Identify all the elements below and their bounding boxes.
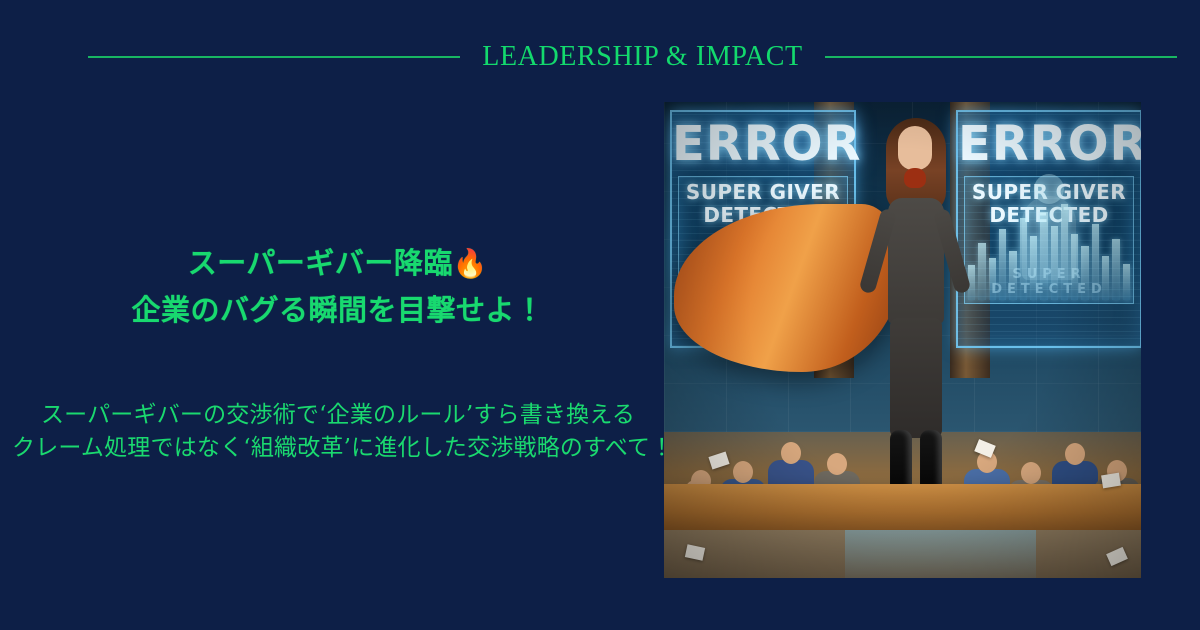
hologram-bar xyxy=(1030,236,1037,300)
eyebrow-rule-right xyxy=(825,56,1177,58)
fire-icon: 🔥 xyxy=(453,247,488,280)
error-label-left: ERROR xyxy=(672,116,854,172)
hologram-bar xyxy=(1040,212,1047,300)
illustration-image: ERROR SUPER GIVER DETECTED SUPER DETECTE… xyxy=(664,102,1141,578)
flying-paper xyxy=(1101,473,1121,489)
crowd-person-head xyxy=(827,453,847,475)
text-column: スーパーギバー降臨🔥 企業のバグる瞬間を目撃せよ！ スーパーギバーの交渉術で‘企… xyxy=(12,102,664,580)
hologram-bar xyxy=(1123,264,1130,300)
subcopy-line-2: クレーム処理ではなく‘組織改革’に進化した交渉戦略のすべて！ xyxy=(12,432,664,465)
holo-screen-right: ERROR SUPER GIVER DETECTED SUPER DETECTE… xyxy=(956,110,1141,348)
hologram-bar-chart xyxy=(968,204,1130,300)
crowd-person-head xyxy=(781,442,801,464)
face xyxy=(898,126,932,170)
floor xyxy=(664,530,1141,578)
headline-line-1-text: スーパーギバー降臨 xyxy=(188,246,453,280)
headline: スーパーギバー降臨🔥 企業のバグる瞬間を目撃せよ！ xyxy=(12,240,664,333)
hologram-bar xyxy=(1009,251,1016,300)
eyebrow-header: LEADERSHIP & IMPACT xyxy=(0,36,1200,78)
eyebrow-title: LEADERSHIP & IMPACT xyxy=(482,43,802,71)
hologram-bar xyxy=(1102,256,1109,300)
office-scene: ERROR SUPER GIVER DETECTED SUPER DETECTE… xyxy=(664,102,1141,578)
subcopy: スーパーギバーの交渉術で‘企業のルール’すら書き換える クレーム処理ではなく‘組… xyxy=(12,399,664,465)
conference-table xyxy=(664,484,1141,530)
error-label-right: ERROR xyxy=(958,116,1140,172)
hologram-bar xyxy=(1081,246,1088,300)
neck-bow xyxy=(904,168,926,188)
subcopy-line-1: スーパーギバーの交渉術で‘企業のルール’すら書き換える xyxy=(12,399,664,432)
hologram-bar xyxy=(978,243,985,300)
hologram-bar xyxy=(1092,224,1099,300)
crowd-person-head xyxy=(1065,443,1085,465)
hologram-bar xyxy=(1112,239,1119,300)
hologram-bar xyxy=(1071,234,1078,300)
hologram-bar xyxy=(989,258,996,300)
hologram-bar xyxy=(1061,204,1068,300)
headline-line-2: 企業のバグる瞬間を目撃せよ！ xyxy=(12,287,664,333)
hologram-bar xyxy=(999,229,1006,300)
eyebrow-rule-left xyxy=(88,56,460,58)
hologram-bar xyxy=(1020,218,1027,300)
hologram-bar xyxy=(1051,226,1058,300)
crowd-person-head xyxy=(733,461,753,483)
poster-canvas: LEADERSHIP & IMPACT スーパーギバー降臨🔥 企業のバグる瞬間を… xyxy=(0,0,1200,630)
crowd-person-head xyxy=(1021,462,1041,484)
headline-line-1: スーパーギバー降臨🔥 xyxy=(12,240,664,287)
